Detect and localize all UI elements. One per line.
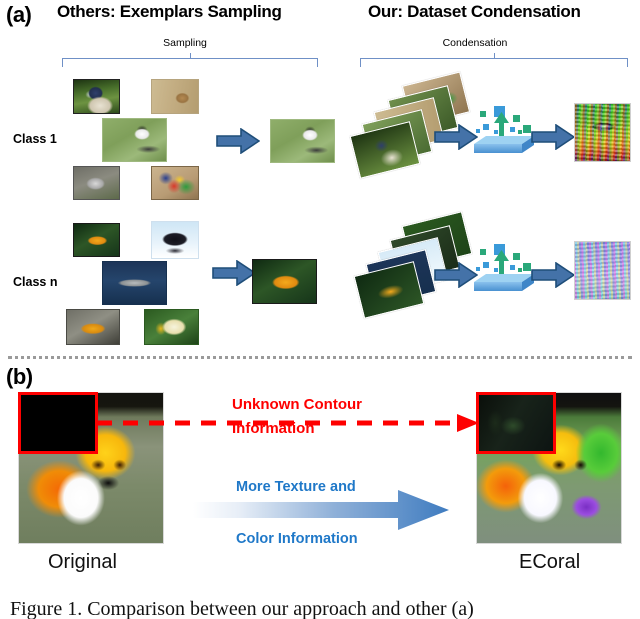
block-arrow-icon xyxy=(216,128,260,159)
chickadee-selected-photo xyxy=(270,119,335,163)
perched-finch-photo xyxy=(151,79,199,114)
block-arrow-icon xyxy=(531,262,575,293)
koi-photo xyxy=(66,309,120,345)
stack-card xyxy=(354,261,425,319)
stack-card xyxy=(350,121,421,179)
rainbow-lorikeet-photo xyxy=(151,166,199,200)
figure-caption: Figure 1. Comparison between our approac… xyxy=(10,598,474,619)
stingray-photo xyxy=(151,221,199,259)
roi-box-original xyxy=(18,392,98,454)
condensed-bird-image xyxy=(574,103,631,162)
roi-box-ecoral xyxy=(476,392,556,454)
red-annotation-line-1: Unknown Contour xyxy=(232,396,362,414)
blue-jay-photo xyxy=(73,79,120,114)
sampling-bracket xyxy=(62,58,318,67)
condensation-machine-icon xyxy=(466,238,538,301)
condensation-machine-icon xyxy=(466,100,538,163)
bracket-label-sampling: Sampling xyxy=(130,37,240,49)
gray-bird-photo xyxy=(73,166,120,200)
chickadee-photo xyxy=(102,118,167,162)
bracket-nub-icon xyxy=(494,53,495,59)
class-label-1: Class 1 xyxy=(13,132,57,146)
blue-annotation-line-1: More Texture and xyxy=(236,479,356,495)
block-arrow-icon xyxy=(212,260,256,291)
condensation-bracket xyxy=(360,58,628,67)
figure-root: (a) Others: Exemplars Sampling Our: Data… xyxy=(0,0,640,619)
panel-a-tag: (a) xyxy=(6,2,31,28)
bracket-label-condensation: Condensation xyxy=(405,37,545,49)
angelfish-photo xyxy=(144,309,199,345)
block-arrow-icon xyxy=(531,124,575,155)
bracket-nub-icon xyxy=(190,53,191,59)
blue-annotation-line-2: Color Information xyxy=(236,531,358,547)
panel-a-title-right: Our: Dataset Condensation xyxy=(368,2,581,22)
class-label-n: Class n xyxy=(13,275,57,289)
shark-photo xyxy=(102,261,167,305)
panel-b-tag: (b) xyxy=(6,364,33,390)
red-annotation-line-2: Information xyxy=(232,420,315,438)
original-image-caption: Original xyxy=(48,551,117,574)
panel-divider xyxy=(8,356,632,359)
condensed-fish-image xyxy=(574,241,631,300)
panel-a-title-left: Others: Exemplars Sampling xyxy=(57,2,282,22)
goldfish-photo xyxy=(73,223,120,257)
ecoral-image-caption: ECoral xyxy=(519,551,580,574)
goldfish-selected-photo xyxy=(252,259,317,304)
